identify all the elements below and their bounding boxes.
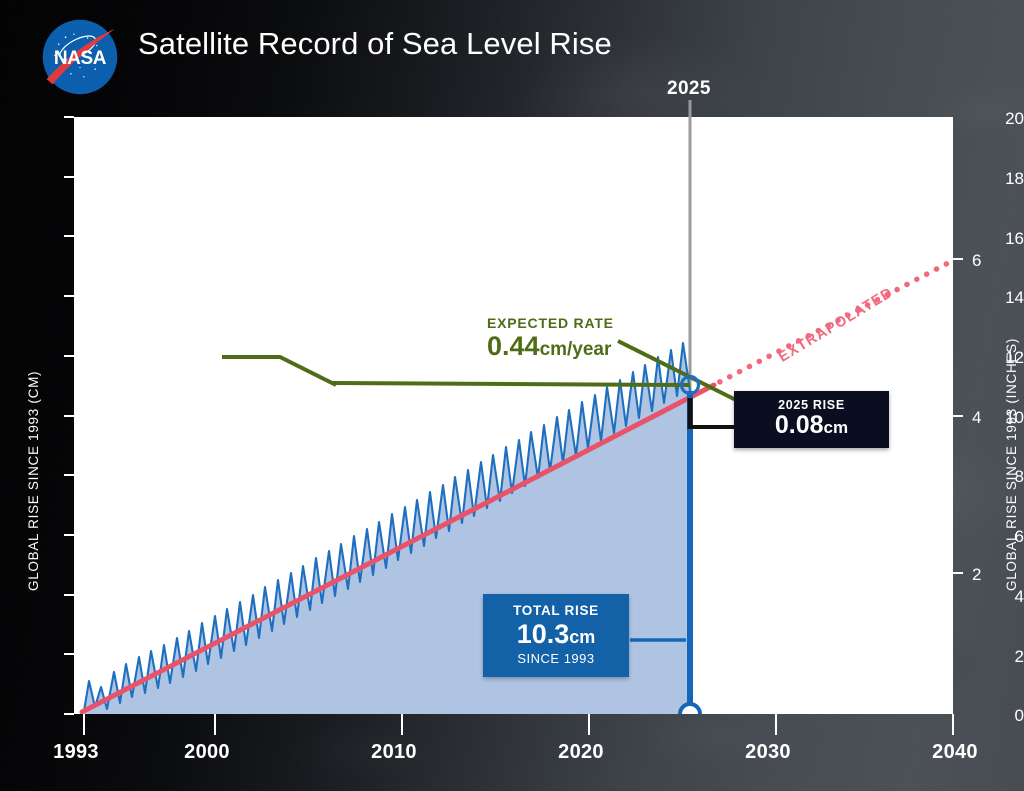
year-rise-callout: 2025 RISE 0.08cm [734, 391, 889, 448]
total-rise-value-row: 10.3cm [483, 620, 629, 648]
expected-rate-value-row: 0.44cm/year [487, 332, 614, 362]
expected-rate-unit: cm/year [540, 339, 612, 360]
year-rise-unit: cm [824, 418, 849, 437]
year-rise-value-row: 0.08cm [734, 412, 889, 438]
total-rise-value: 10.3 [517, 619, 570, 649]
expected-rate-leader-line [222, 357, 336, 385]
total-rise-subcaption: SINCE 1993 [483, 651, 629, 666]
total-rise-unit: cm [569, 627, 595, 647]
year-rise-caption: 2025 RISE [734, 398, 889, 412]
infographic-root: NASA Satellite Record of Sea Level Rise … [0, 0, 1024, 791]
expected-rate-value: 0.44 [487, 331, 540, 361]
total-rise-caption: TOTAL RISE [483, 603, 629, 618]
year-rise-value: 0.08 [775, 411, 824, 439]
expected-rate-annotation: EXPECTED RATE 0.44cm/year [487, 315, 614, 362]
expected-rate-caption: EXPECTED RATE [487, 315, 614, 331]
total-rise-callout: TOTAL RISE 10.3cm SINCE 1993 [483, 594, 629, 677]
expected-rate-leader-extension [332, 383, 690, 385]
axis-base-marker [680, 704, 700, 714]
